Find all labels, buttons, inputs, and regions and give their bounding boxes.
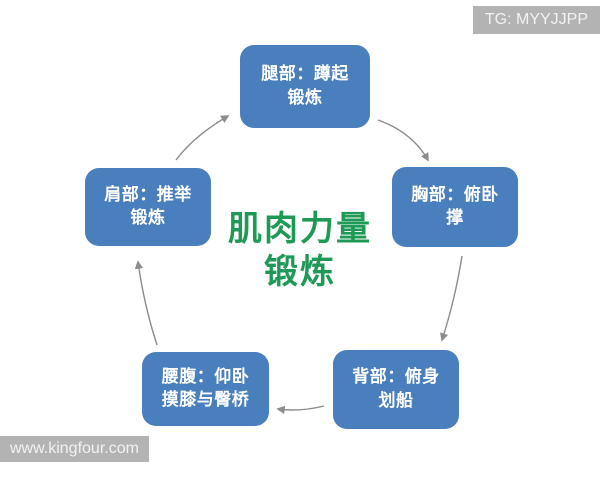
node-chest-label: 胸部：俯卧 撑 (411, 184, 499, 231)
node-legs-label: 腿部：蹲起 锻炼 (261, 63, 349, 110)
node-back-label: 背部：俯身 划船 (352, 366, 440, 413)
arrow-chest-to-back (442, 256, 462, 340)
arrow-core-to-shoulder (138, 262, 157, 345)
arrow-legs-to-chest (378, 120, 428, 160)
node-core-label: 腰腹：仰卧 摸膝与臀桥 (162, 366, 250, 413)
node-legs[interactable]: 腿部：蹲起 锻炼 (240, 45, 370, 128)
watermark-telegram: TG: MYYJJPP (473, 6, 600, 34)
node-back[interactable]: 背部：俯身 划船 (333, 350, 459, 429)
node-core[interactable]: 腰腹：仰卧 摸膝与臀桥 (142, 352, 269, 426)
diagram-canvas: 腿部：蹲起 锻炼 胸部：俯卧 撑 背部：俯身 划船 腰腹：仰卧 摸膝与臀桥 肩部… (0, 0, 600, 480)
node-shoulder-label: 肩部：推举 锻炼 (104, 184, 192, 231)
arrow-shoulder-to-legs (176, 116, 228, 160)
watermark-site-url: www.kingfour.com (0, 436, 149, 462)
diagram-center-title: 肌肉力量 锻炼 (200, 208, 400, 293)
arrow-back-to-core (278, 406, 324, 410)
node-shoulder[interactable]: 肩部：推举 锻炼 (85, 168, 211, 246)
node-chest[interactable]: 胸部：俯卧 撑 (392, 167, 518, 247)
